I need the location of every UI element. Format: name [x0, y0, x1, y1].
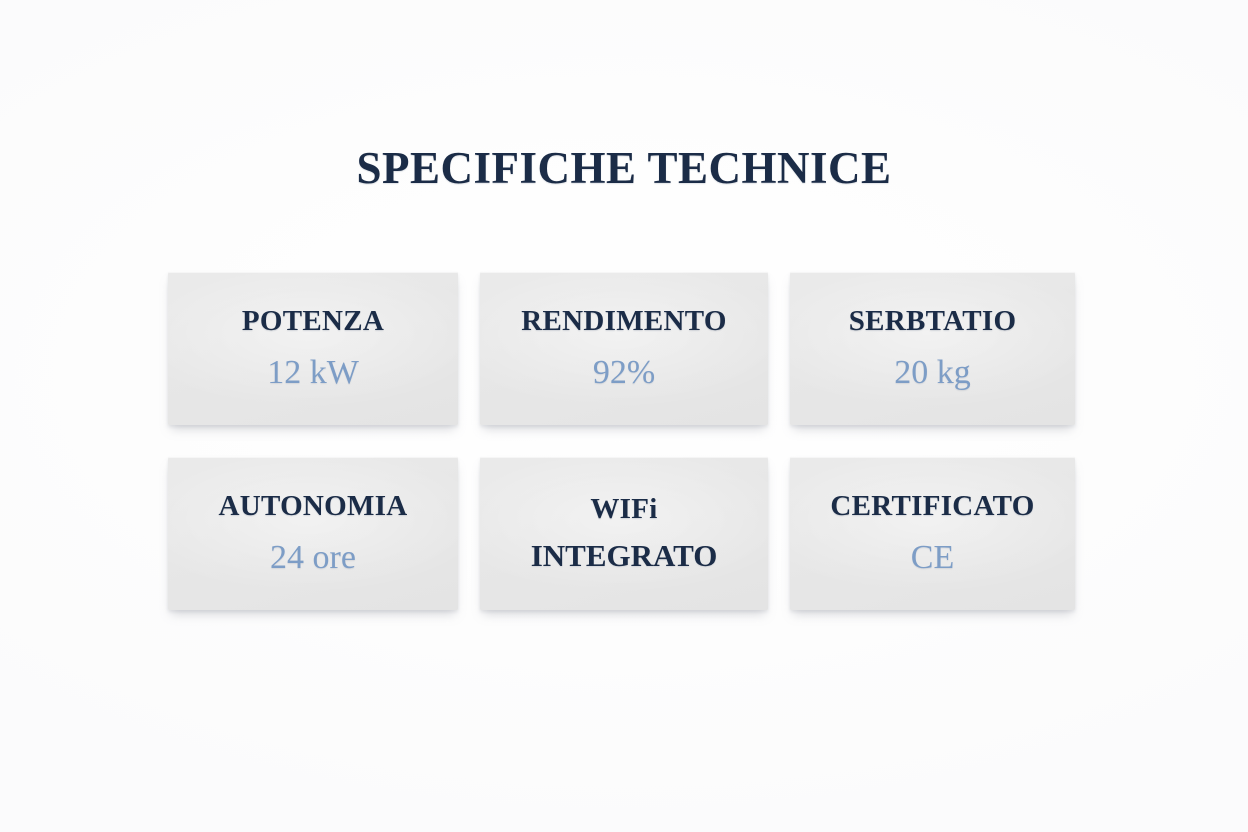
spec-value: INTEGRATO [531, 538, 718, 574]
spec-label: RENDIMENTO [521, 305, 727, 338]
spec-value: 24 ore [270, 538, 356, 577]
spec-card-wifi: WIFi INTEGRATO [480, 457, 768, 610]
spec-card-serbtatio: SERBTATIO 20 kg [790, 272, 1075, 425]
spec-card-rendimento: RENDIMENTO 92% [480, 272, 768, 425]
spec-card-certificato: CERTIFICATO CE [790, 457, 1075, 610]
spec-sheet: SPECIFICHE TECHNICE POTENZA 12 kW RENDIM… [0, 0, 1248, 832]
spec-label: CERTIFICATO [830, 490, 1034, 523]
spec-card-autonomia: AUTONOMIA 24 ore [168, 457, 458, 610]
spec-value: 12 kW [267, 353, 359, 392]
spec-label: SERBTATIO [849, 305, 1017, 338]
spec-card-potenza: POTENZA 12 kW [168, 272, 458, 425]
spec-label: POTENZA [242, 305, 384, 338]
spec-value: CE [911, 538, 954, 577]
spec-label: WIFi [590, 493, 657, 526]
spec-card-grid: POTENZA 12 kW RENDIMENTO 92% SERBTATIO 2… [168, 272, 1078, 610]
spec-value: 92% [593, 353, 655, 392]
spec-value: 20 kg [894, 353, 971, 392]
page-title: SPECIFICHE TECHNICE [0, 142, 1248, 194]
spec-label: AUTONOMIA [218, 490, 407, 523]
